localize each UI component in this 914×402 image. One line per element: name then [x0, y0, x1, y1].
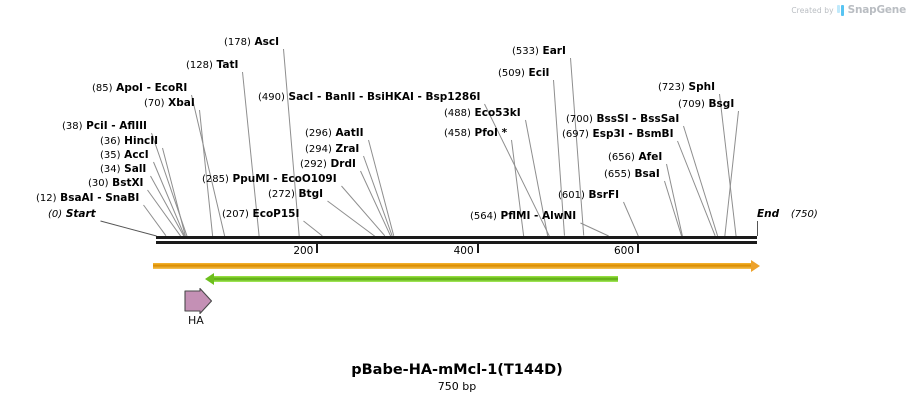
restriction-site-name: BsgI [705, 98, 734, 110]
restriction-site-position: (34) [100, 164, 121, 175]
restriction-site-name: ApoI - EcoRI [113, 82, 188, 94]
site-connector-line [719, 94, 737, 236]
site-connector-line [303, 221, 323, 237]
restriction-site-position: (35) [100, 150, 121, 161]
restriction-site-label[interactable]: (292) DrdI [300, 159, 356, 170]
restriction-site-name: TatI [213, 59, 238, 71]
restriction-site-label[interactable]: (564) PflMI - AlwNI [470, 211, 576, 222]
restriction-site-name: EciI [525, 67, 550, 79]
restriction-site-name: AfeI [635, 151, 662, 163]
restriction-site-name: PciI - AflIII [83, 120, 147, 132]
full-length-orange-arrow-body [153, 263, 751, 269]
restriction-site-label[interactable]: (30) BstXI [88, 178, 143, 189]
restriction-site-name: EarI [539, 45, 566, 57]
restriction-site-label[interactable]: (285) PpuMI - EcoO109I [202, 174, 337, 185]
full-length-orange-arrow-head [751, 260, 760, 272]
restriction-site-position: (601) [558, 190, 585, 201]
start-position: (0) [48, 209, 62, 220]
site-connector-line [143, 205, 166, 237]
restriction-site-label[interactable]: (700) BssSI - BssSaI [566, 114, 679, 125]
restriction-site-label[interactable]: (207) EcoP15I [222, 209, 299, 220]
restriction-site-position: (178) [224, 37, 251, 48]
restriction-site-label[interactable]: (655) BsaI [604, 169, 660, 180]
restriction-site-position: (294) [305, 144, 332, 155]
restriction-site-label[interactable]: (697) Esp3I - BsmBI [562, 129, 673, 140]
restriction-site-name: AscI [251, 36, 279, 48]
restriction-site-label[interactable]: (178) AscI [224, 37, 279, 48]
sequence-backbone-top [156, 236, 757, 239]
restriction-site-name: SacI - BanII - BsiHKAI - Bsp1286I [285, 91, 481, 103]
restriction-site-label[interactable]: (488) Eco53kI [444, 108, 521, 119]
restriction-site-name: PpuMI - EcoO109I [229, 173, 337, 185]
restriction-site-label[interactable]: (85) ApoI - EcoRI [92, 83, 187, 94]
restriction-site-position: (564) [470, 211, 497, 222]
site-connector-line [150, 176, 184, 236]
sequence-backbone-bottom [156, 241, 757, 244]
restriction-site-name: XbaI [165, 97, 195, 109]
feature-ha-label: HA [188, 314, 204, 327]
restriction-site-position: (292) [300, 159, 327, 170]
restriction-site-name: BssSI - BssSaI [593, 113, 679, 125]
restriction-site-position: (272) [268, 189, 295, 200]
restriction-site-position: (38) [62, 121, 83, 132]
restriction-site-position: (36) [100, 136, 121, 147]
ha-arrow-shape [183, 288, 213, 314]
restriction-site-name: Eco53kI [471, 107, 521, 119]
restriction-site-position: (285) [202, 174, 229, 185]
restriction-site-position: (656) [608, 152, 635, 163]
site-connector-line [580, 223, 609, 237]
site-connector-line [666, 164, 683, 236]
end-position: (750) [783, 209, 818, 220]
restriction-site-name: EcoP15I [249, 208, 299, 220]
restriction-site-label[interactable]: (294) ZraI [305, 144, 359, 155]
restriction-site-name: PfoI * [471, 127, 507, 139]
restriction-site-name: BsaAI - SnaBI [57, 192, 140, 204]
restriction-site-label[interactable]: (35) AccI [100, 150, 149, 161]
restriction-site-position: (488) [444, 108, 471, 119]
reverse-green-arrow-head [205, 273, 214, 285]
snapgene-logo-icon [837, 5, 845, 16]
restriction-site-name: BsaI [631, 168, 660, 180]
restriction-site-name: SalI [121, 163, 147, 175]
restriction-site-name: PflMI - AlwNI [497, 210, 576, 222]
snapgene-watermark: Created by SnapGene [791, 4, 906, 16]
restriction-site-position: (458) [444, 128, 471, 139]
restriction-site-label[interactable]: (656) AfeI [608, 152, 662, 163]
ruler-tick-label: 200 [293, 245, 313, 257]
restriction-site-label[interactable]: (509) EciI [498, 68, 549, 79]
restriction-site-position: (709) [678, 99, 705, 110]
start-text: Start [66, 208, 96, 220]
restriction-site-position: (296) [305, 128, 332, 139]
restriction-site-label[interactable]: (296) AatII [305, 128, 364, 139]
restriction-site-position: (697) [562, 129, 589, 140]
restriction-site-name: Esp3I - BsmBI [589, 128, 674, 140]
site-connector-line [683, 126, 718, 236]
restriction-site-label[interactable]: (36) HincII [100, 136, 158, 147]
plasmid-length: 750 bp [0, 380, 914, 393]
restriction-site-name: HincII [121, 135, 159, 147]
restriction-site-name: AatII [332, 127, 364, 139]
ruler-tick [637, 244, 639, 253]
restriction-site-label[interactable]: (38) PciI - AflIII [62, 121, 147, 132]
site-connector-line [677, 141, 716, 236]
restriction-site-name: SphI [685, 81, 715, 93]
end-connector-line [757, 221, 758, 236]
restriction-site-position: (700) [566, 114, 593, 125]
restriction-site-position: (207) [222, 209, 249, 220]
restriction-site-name: BstXI [109, 177, 144, 189]
watermark-created-by: Created by [791, 6, 833, 15]
restriction-site-label[interactable]: (533) EarI [512, 46, 566, 57]
restriction-site-label[interactable]: (70) XbaI [144, 98, 195, 109]
restriction-site-position: (655) [604, 169, 631, 180]
restriction-site-name: DrdI [327, 158, 356, 170]
end-text: End [757, 208, 779, 220]
site-connector-line [327, 201, 375, 237]
restriction-site-label[interactable]: (490) SacI - BanII - BsiHKAI - Bsp1286I [258, 92, 480, 103]
ruler-tick-label: 400 [454, 245, 474, 257]
restriction-site-label[interactable]: (723) SphI [658, 82, 715, 93]
ruler-tick-label: 600 [614, 245, 634, 257]
watermark-brand: SnapGene [848, 4, 906, 16]
restriction-site-position: (30) [88, 178, 109, 189]
site-connector-line [199, 110, 213, 236]
plasmid-map: Created by SnapGene (12) BsaAI - SnaBI(3… [0, 0, 914, 402]
restriction-site-position: (509) [498, 68, 525, 79]
restriction-site-position: (490) [258, 92, 285, 103]
restriction-site-position: (70) [144, 98, 165, 109]
end-marker-label: End (750) [757, 209, 818, 220]
restriction-site-position: (128) [186, 60, 213, 71]
restriction-site-label[interactable]: (458) PfoI * [444, 128, 507, 139]
site-connector-line [363, 156, 393, 236]
site-connector-line [724, 111, 739, 236]
reverse-green-arrow-body [214, 276, 618, 282]
plasmid-title: pBabe-HA-mMcl-1(T144D) [0, 362, 914, 378]
restriction-site-name: ZraI [332, 143, 359, 155]
ruler-tick [477, 244, 479, 253]
restriction-site-position: (533) [512, 46, 539, 57]
restriction-site-label[interactable]: (12) BsaAI - SnaBI [36, 193, 139, 204]
restriction-site-label[interactable]: (601) BsrFI [558, 190, 619, 201]
restriction-site-position: (85) [92, 83, 113, 94]
start-connector-line [100, 221, 156, 237]
restriction-site-position: (723) [658, 82, 685, 93]
restriction-site-label[interactable]: (272) BtgI [268, 189, 323, 200]
site-connector-line [623, 202, 639, 236]
restriction-site-name: AccI [121, 149, 149, 161]
restriction-site-name: BsrFI [585, 189, 619, 201]
restriction-site-label[interactable]: (34) SalI [100, 164, 146, 175]
restriction-site-position: (12) [36, 193, 57, 204]
ruler-tick [316, 244, 318, 253]
restriction-site-label[interactable]: (128) TatI [186, 60, 238, 71]
start-marker-label: (0) Start [48, 209, 96, 220]
restriction-site-label[interactable]: (709) BsgI [678, 99, 734, 110]
restriction-site-name: BtgI [295, 188, 323, 200]
site-connector-line [191, 95, 225, 236]
